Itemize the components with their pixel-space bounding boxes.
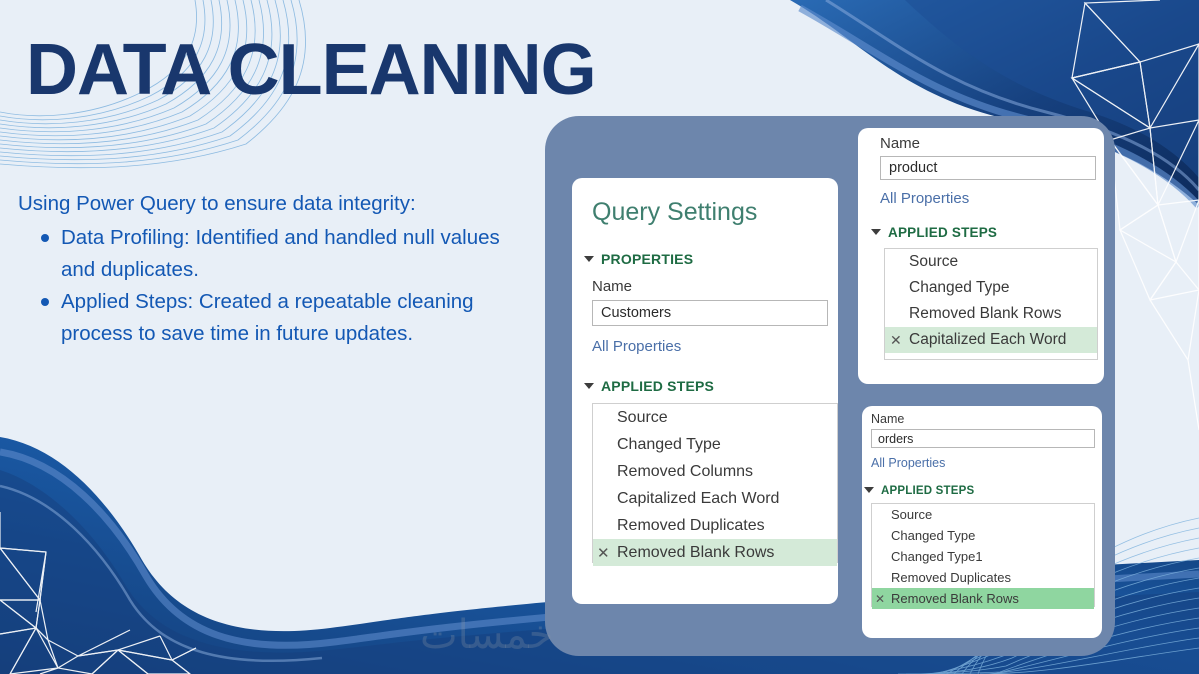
intro-line: Using Power Query to ensure data integri… bbox=[18, 188, 518, 220]
name-label: Name bbox=[592, 278, 838, 295]
delete-step-icon[interactable]: ✕ bbox=[597, 544, 617, 562]
delete-step-icon[interactable]: ✕ bbox=[875, 592, 891, 606]
name-label: Name bbox=[871, 412, 1102, 426]
applied-step-label: Changed Type bbox=[909, 279, 1010, 297]
delete-step-icon[interactable]: ✕ bbox=[890, 332, 909, 349]
applied-step-label: Changed Type1 bbox=[891, 549, 983, 564]
watermark: خمسات bbox=[420, 612, 553, 658]
list-item: Applied Steps: Created a repeatable clea… bbox=[40, 286, 518, 350]
applied-step-label: Removed Duplicates bbox=[617, 517, 765, 535]
slide-canvas: DATA CLEANING Using Power Query to ensur… bbox=[0, 0, 1199, 674]
applied-step-label: Source bbox=[891, 507, 932, 522]
applied-step-label: Source bbox=[909, 253, 958, 271]
applied-step-label: Removed Blank Rows bbox=[909, 305, 1061, 323]
applied-step-row[interactable]: Changed Type bbox=[872, 525, 1094, 546]
applied-step-row[interactable]: Source bbox=[593, 404, 837, 431]
applied-steps-section-header[interactable]: APPLIED STEPS bbox=[871, 225, 1104, 240]
query-settings-title: Query Settings bbox=[592, 198, 838, 227]
applied-step-label: Changed Type bbox=[617, 436, 721, 454]
applied-step-label: Source bbox=[617, 409, 668, 427]
applied-step-row[interactable]: Changed Type bbox=[593, 431, 837, 458]
name-input[interactable]: product bbox=[880, 156, 1096, 180]
applied-steps-list: Source Changed Type Changed Type1 Remove… bbox=[871, 503, 1095, 607]
chevron-down-icon bbox=[584, 383, 594, 389]
applied-step-row[interactable]: Changed Type bbox=[885, 275, 1097, 301]
query-settings-panel-customers: Query Settings PROPERTIES Name Customers… bbox=[572, 178, 838, 604]
name-input[interactable]: orders bbox=[871, 429, 1095, 448]
applied-steps-list: Source Changed Type Removed Columns Capi… bbox=[592, 403, 838, 563]
name-label: Name bbox=[880, 135, 1104, 152]
bullet-text: Data Profiling: Identified and handled n… bbox=[61, 226, 500, 281]
bullet-text: Applied Steps: Created a repeatable clea… bbox=[61, 290, 474, 345]
bullet-dot-icon bbox=[41, 298, 49, 306]
applied-step-label: Removed Blank Rows bbox=[617, 544, 774, 562]
query-settings-panel-orders: Name orders All Properties APPLIED STEPS… bbox=[862, 406, 1102, 638]
all-properties-link[interactable]: All Properties bbox=[871, 456, 1102, 470]
applied-step-row[interactable]: Removed Duplicates bbox=[593, 512, 837, 539]
all-properties-link[interactable]: All Properties bbox=[592, 338, 838, 355]
applied-step-row[interactable]: Capitalized Each Word bbox=[593, 485, 837, 512]
page-title: DATA CLEANING bbox=[26, 34, 596, 106]
chevron-down-icon bbox=[864, 487, 874, 493]
applied-step-label: Removed Columns bbox=[617, 463, 753, 481]
bullet-dot-icon bbox=[41, 234, 49, 242]
body-copy: Using Power Query to ensure data integri… bbox=[18, 188, 518, 350]
applied-step-row[interactable]: Source bbox=[885, 249, 1097, 275]
all-properties-link[interactable]: All Properties bbox=[880, 190, 1104, 207]
applied-step-label: Changed Type bbox=[891, 528, 975, 543]
applied-step-row[interactable]: Changed Type1 bbox=[872, 546, 1094, 567]
bullet-list: Data Profiling: Identified and handled n… bbox=[40, 222, 518, 350]
applied-step-row-selected[interactable]: ✕ Capitalized Each Word bbox=[885, 327, 1097, 353]
applied-step-row-selected[interactable]: ✕ Removed Blank Rows bbox=[593, 539, 837, 566]
query-settings-panel-product: Name product All Properties APPLIED STEP… bbox=[858, 128, 1104, 384]
properties-section-header[interactable]: PROPERTIES bbox=[584, 251, 838, 267]
applied-step-row-selected[interactable]: ✕ Removed Blank Rows bbox=[872, 588, 1094, 609]
applied-steps-list: Source Changed Type Removed Blank Rows ✕… bbox=[884, 248, 1098, 360]
applied-step-row[interactable]: Source bbox=[872, 504, 1094, 525]
applied-step-label: Removed Duplicates bbox=[891, 570, 1011, 585]
list-item: Data Profiling: Identified and handled n… bbox=[40, 222, 518, 286]
applied-steps-section-header[interactable]: APPLIED STEPS bbox=[584, 378, 838, 394]
name-input[interactable]: Customers bbox=[592, 300, 828, 326]
applied-step-label: Capitalized Each Word bbox=[909, 331, 1066, 349]
name-input-value: product bbox=[889, 160, 937, 176]
applied-step-label: Capitalized Each Word bbox=[617, 490, 779, 508]
name-input-value: Customers bbox=[601, 305, 671, 321]
applied-step-row[interactable]: Removed Blank Rows bbox=[885, 301, 1097, 327]
chevron-down-icon bbox=[584, 256, 594, 262]
applied-step-label: Removed Blank Rows bbox=[891, 591, 1019, 606]
applied-step-row[interactable]: Removed Columns bbox=[593, 458, 837, 485]
chevron-down-icon bbox=[871, 229, 881, 235]
name-input-value: orders bbox=[878, 432, 913, 446]
applied-steps-section-header[interactable]: APPLIED STEPS bbox=[864, 485, 1102, 497]
applied-step-row[interactable]: Removed Duplicates bbox=[872, 567, 1094, 588]
